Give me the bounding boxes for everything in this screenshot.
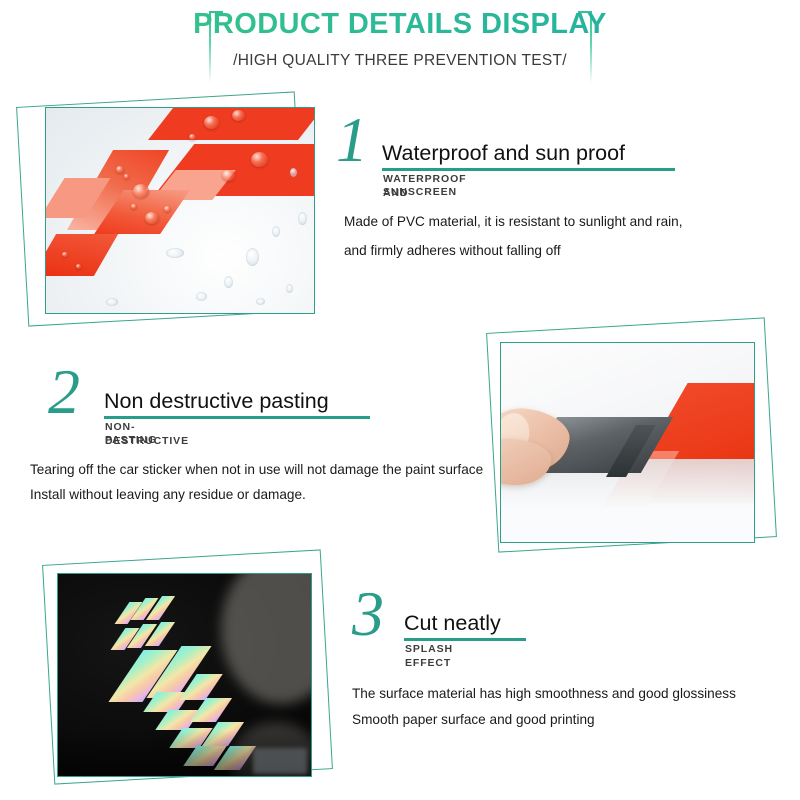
section-1-heading-rule	[382, 168, 675, 171]
section-2-body-line2: Install without leaving any residue or d…	[30, 481, 306, 508]
page-header: PRODUCT DETAILS DISPLAY /HIGH QUALITY TH…	[0, 0, 800, 92]
photo-waterproof-content	[46, 108, 314, 313]
section-2-number: 2	[48, 360, 80, 424]
photo-non-destructive	[500, 342, 755, 543]
section-1-body-line1: Made of PVC material, it is resistant to…	[344, 208, 683, 235]
page-title: PRODUCT DETAILS DISPLAY	[0, 8, 800, 41]
section-1-body-line2: and firmly adheres without falling off	[344, 237, 561, 264]
photo-cut-neatly	[57, 573, 312, 777]
section-3-body-line2: Smooth paper surface and good printing	[352, 706, 595, 733]
section-2-subheading-line2: PASTING	[105, 434, 157, 448]
chevron-band	[148, 107, 315, 140]
page-subtitle: /HIGH QUALITY THREE PREVENTION TEST/	[0, 52, 800, 70]
photo-cut-neatly-content	[58, 574, 311, 776]
section-2-heading-rule	[104, 416, 370, 419]
section-1-subheading-line2: SUNSCREEN	[383, 186, 457, 200]
photo-non-destructive-content	[501, 343, 754, 542]
photo-waterproof	[45, 107, 315, 314]
section-3-number: 3	[352, 582, 384, 646]
section-2-heading: Non destructive pasting	[104, 389, 329, 414]
product-details-page: PRODUCT DETAILS DISPLAY /HIGH QUALITY TH…	[0, 0, 800, 800]
section-2-body-line1: Tearing off the car sticker when not in …	[30, 456, 483, 483]
section-3-subheading-line1: SPLASH EFFECT	[405, 643, 453, 671]
section-1-number: 1	[336, 108, 368, 172]
section-3-heading-rule	[404, 638, 526, 641]
section-3-body-line1: The surface material has high smoothness…	[352, 680, 736, 707]
section-1-heading: Waterproof and sun proof	[382, 141, 625, 166]
section-3-heading: Cut neatly	[404, 611, 501, 636]
